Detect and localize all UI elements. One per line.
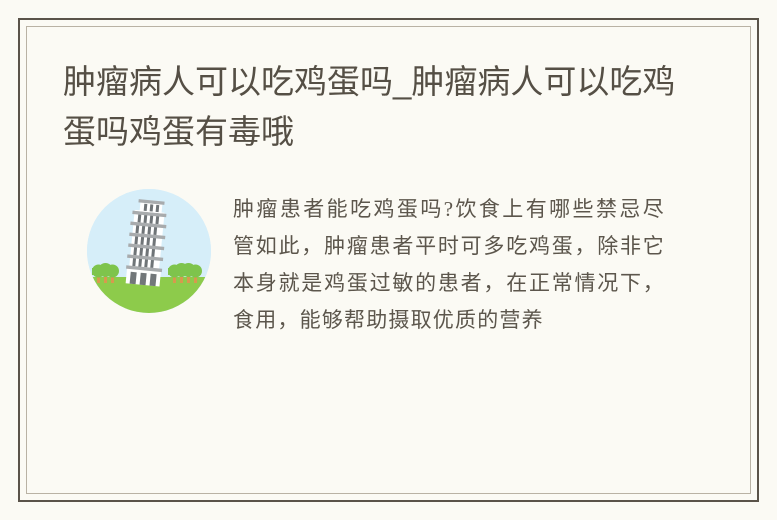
card-inner-frame: 肿瘤病人可以吃鸡蛋吗_肿瘤病人可以吃鸡蛋吗鸡蛋有毒哦 (26, 26, 751, 494)
card-content: 肿瘤病人可以吃鸡蛋吗_肿瘤病人可以吃鸡蛋吗鸡蛋有毒哦 (27, 27, 750, 493)
page-title: 肿瘤病人可以吃鸡蛋吗_肿瘤病人可以吃鸡蛋吗鸡蛋有毒哦 (63, 57, 703, 157)
article-card-page: 肿瘤病人可以吃鸡蛋吗_肿瘤病人可以吃鸡蛋吗鸡蛋有毒哦 (0, 0, 777, 520)
article-thumbnail (87, 189, 211, 313)
article-summary-text: 肿瘤患者能吃鸡蛋吗?饮食上有哪些禁忌尽管如此，肿瘤患者平时可多吃鸡蛋，除非它本身… (233, 189, 665, 339)
article-body-row: 肿瘤患者能吃鸡蛋吗?饮食上有哪些禁忌尽管如此，肿瘤患者平时可多吃鸡蛋，除非它本身… (63, 189, 714, 339)
leaning-tower-of-pisa-icon (87, 189, 211, 313)
card-outer-frame: 肿瘤病人可以吃鸡蛋吗_肿瘤病人可以吃鸡蛋吗鸡蛋有毒哦 (18, 18, 759, 502)
thumbnail-circle (87, 189, 211, 313)
